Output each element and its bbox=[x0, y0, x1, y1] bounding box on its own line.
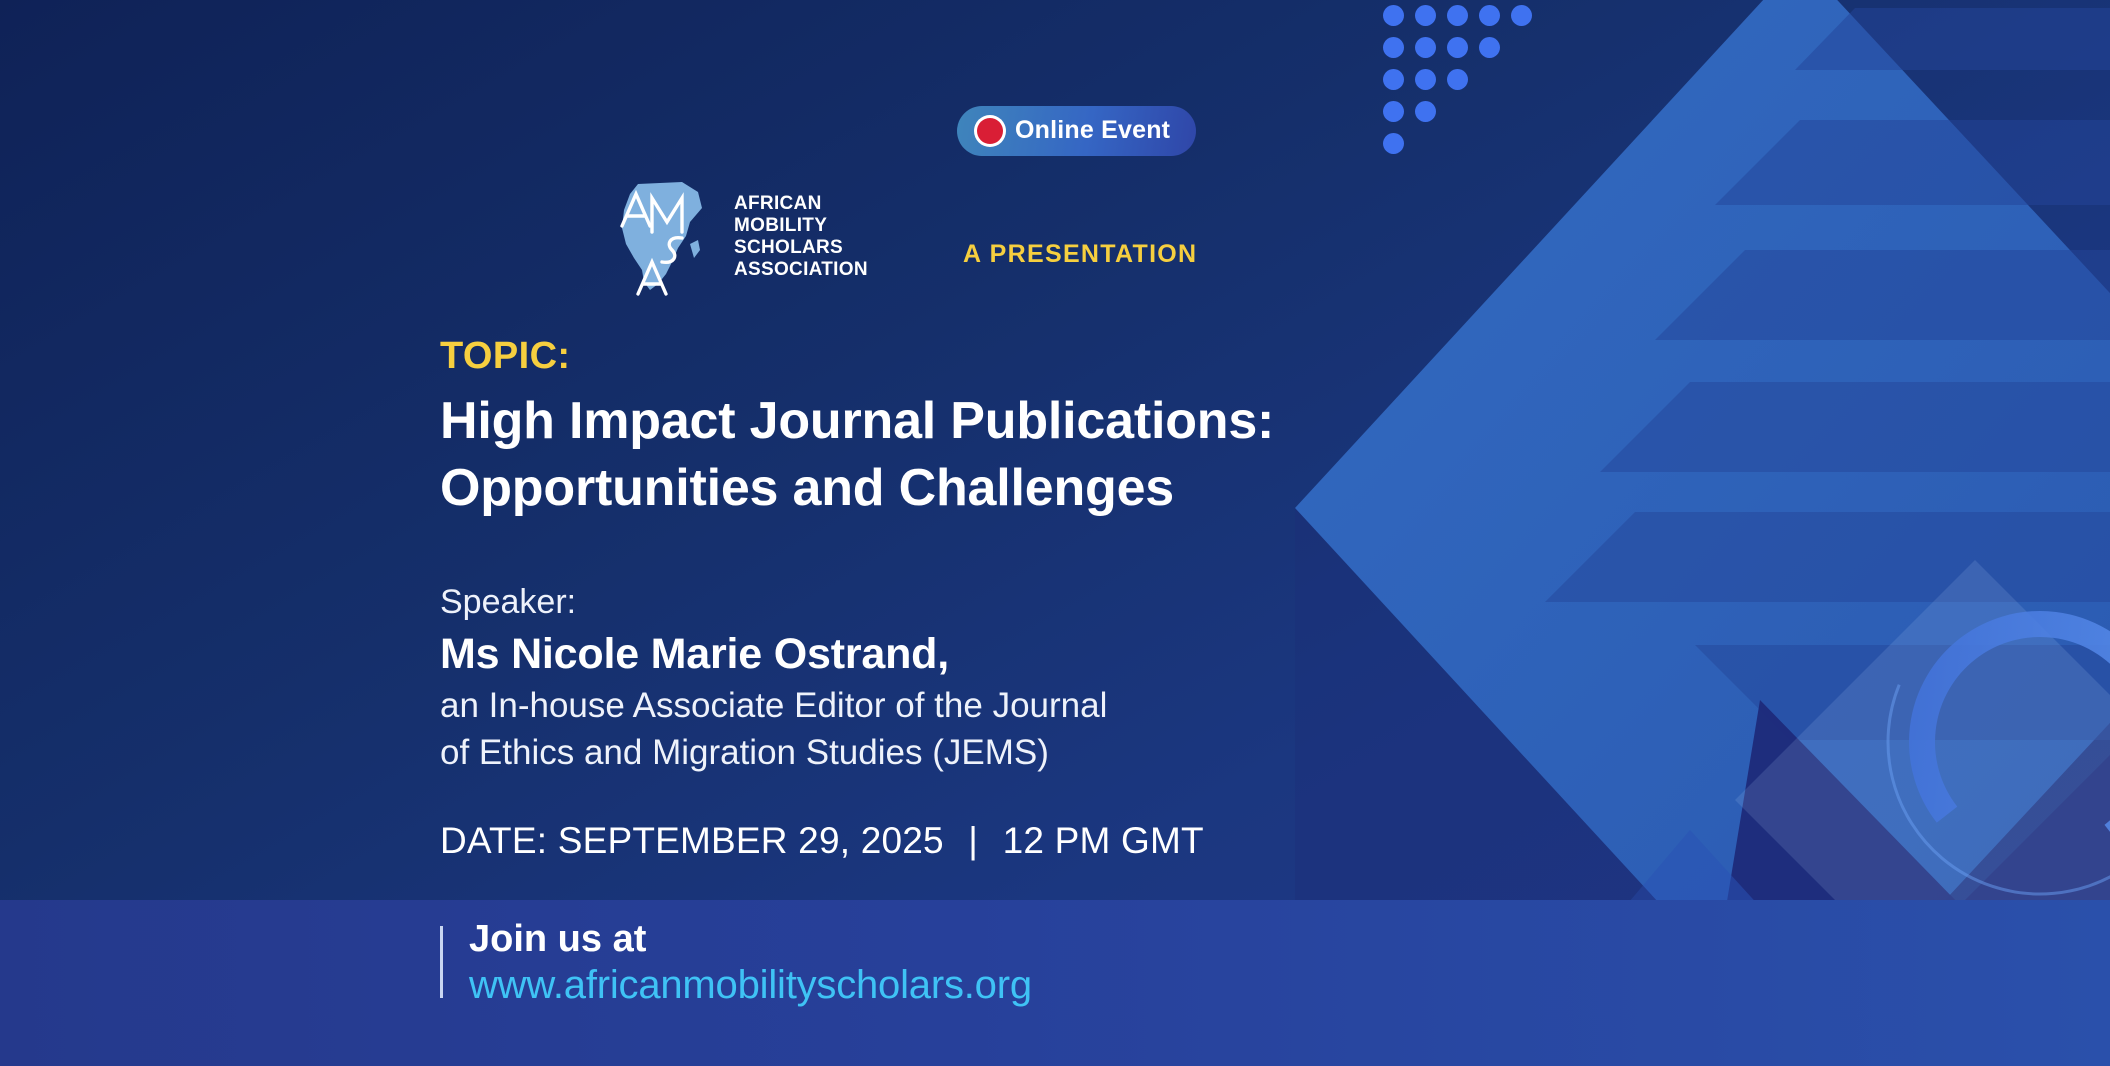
grid-dot bbox=[1511, 5, 1532, 26]
record-dot-icon bbox=[977, 118, 1003, 144]
grid-dot bbox=[1447, 5, 1468, 26]
page-title: High Impact Journal Publications: Opport… bbox=[440, 388, 1440, 521]
speaker-label: Speaker: bbox=[440, 583, 1440, 622]
main-content: TOPIC: High Impact Journal Publications:… bbox=[440, 335, 1440, 862]
join-title: Join us at bbox=[469, 918, 1032, 961]
logo-line-1: AFRICAN bbox=[734, 193, 868, 215]
grid-dot bbox=[1447, 37, 1468, 58]
footer-band bbox=[0, 900, 2110, 1066]
grid-dot bbox=[1383, 69, 1404, 90]
logo-line-4: ASSOCIATION bbox=[734, 259, 868, 281]
vertical-divider bbox=[440, 926, 443, 998]
website-link[interactable]: www.africanmobilityscholars.org bbox=[469, 963, 1032, 1008]
presentation-kicker: A PRESENTATION bbox=[963, 240, 1197, 269]
online-event-badge: Online Event bbox=[957, 106, 1196, 156]
grid-dot bbox=[1415, 5, 1436, 26]
amsa-logo-wordmark: AFRICAN MOBILITY SCHOLARS ASSOCIATION bbox=[734, 193, 868, 282]
event-poster: Online Event AFRICAN MOBILITY SCHOLARS A… bbox=[0, 0, 2110, 1066]
chevron-stripes-decor bbox=[1545, 8, 2110, 740]
logo-line-3: SCHOLARS bbox=[734, 237, 868, 259]
grid-dot bbox=[1447, 69, 1468, 90]
online-event-label: Online Event bbox=[1015, 116, 1170, 145]
grid-dot bbox=[1415, 101, 1436, 122]
event-datetime: DATE: SEPTEMBER 29, 2025 | 12 PM GMT bbox=[440, 820, 1440, 862]
grid-dot bbox=[1415, 69, 1436, 90]
grid-dot bbox=[1383, 5, 1404, 26]
event-date: DATE: SEPTEMBER 29, 2025 bbox=[440, 820, 944, 861]
amsa-logo: AFRICAN MOBILITY SCHOLARS ASSOCIATION bbox=[612, 178, 868, 296]
grid-dot bbox=[1415, 37, 1436, 58]
ring-arc-decor bbox=[1826, 528, 2110, 956]
grid-dot bbox=[1383, 37, 1404, 58]
join-us-block: Join us at www.africanmobilityscholars.o… bbox=[440, 918, 1032, 1008]
grid-dot bbox=[1383, 133, 1404, 154]
topic-title-line-2: Opportunities and Challenges bbox=[440, 459, 1174, 517]
event-time: 12 PM GMT bbox=[1003, 820, 1204, 861]
datetime-separator: | bbox=[954, 820, 992, 861]
topic-label: TOPIC: bbox=[440, 335, 1440, 378]
speaker-role: an In-house Associate Editor of the Jour… bbox=[440, 683, 1440, 776]
africa-map-amsa-icon bbox=[612, 178, 720, 296]
speaker-role-line-2: of Ethics and Migration Studies (JEMS) bbox=[440, 733, 1049, 772]
speaker-name: Ms Nicole Marie Ostrand, bbox=[440, 630, 1440, 679]
grid-dot bbox=[1383, 101, 1404, 122]
grid-dot bbox=[1479, 5, 1500, 26]
logo-line-2: MOBILITY bbox=[734, 215, 868, 237]
join-text: Join us at www.africanmobilityscholars.o… bbox=[469, 918, 1032, 1008]
topic-title-line-1: High Impact Journal Publications: bbox=[440, 392, 1274, 450]
dot-grid-decor bbox=[1383, 5, 1563, 145]
grid-dot bbox=[1479, 37, 1500, 58]
speaker-block: Speaker: Ms Nicole Marie Ostrand, an In-… bbox=[440, 583, 1440, 776]
speaker-role-line-1: an In-house Associate Editor of the Jour… bbox=[440, 686, 1107, 725]
